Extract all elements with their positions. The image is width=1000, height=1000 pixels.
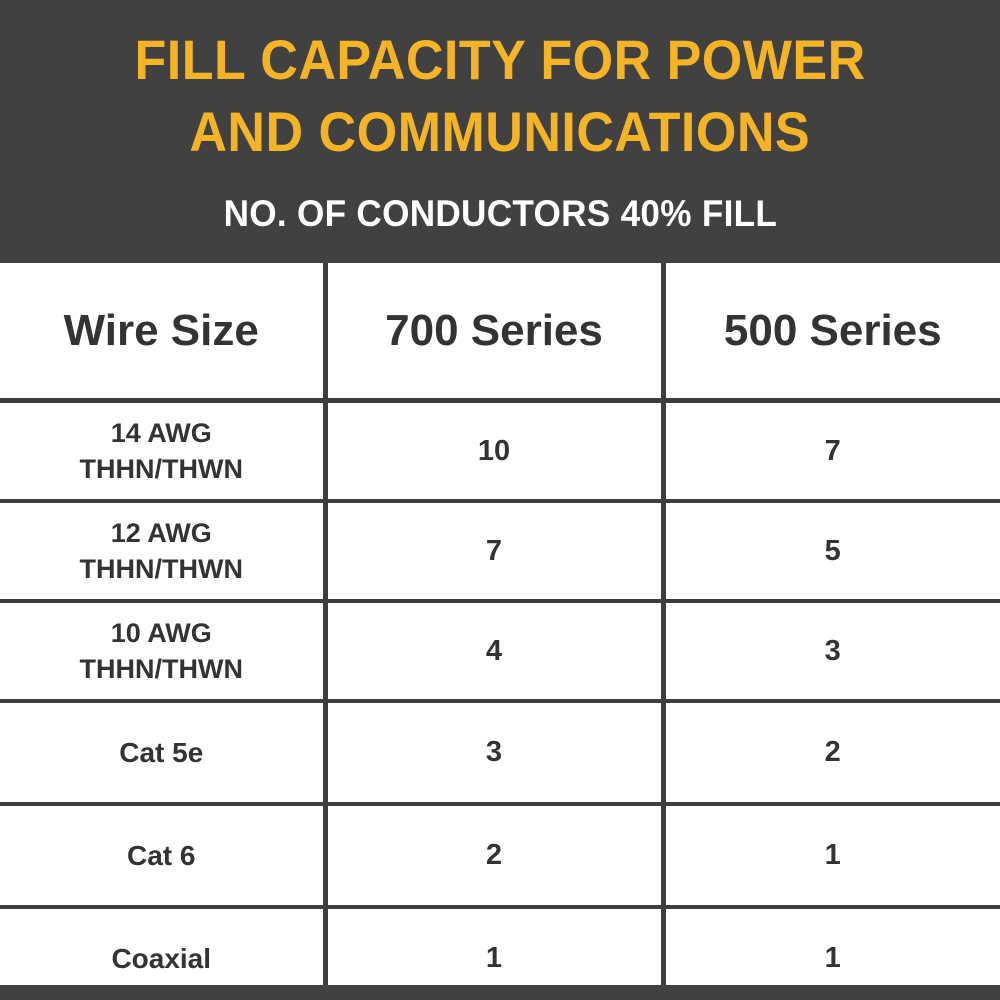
cell-700-series: 3: [325, 701, 663, 804]
header-banner: FILL CAPACITY FOR POWER AND COMMUNICATIO…: [0, 0, 1000, 263]
wire-size-primary: 12 AWG: [0, 515, 323, 551]
cell-500-series: 1: [663, 804, 1000, 907]
cell-500-series: 5: [663, 501, 1000, 601]
table-row: Cat 6 2 1: [0, 804, 1000, 907]
wire-size-secondary: THHN/THWN: [0, 551, 323, 587]
wire-size-secondary: THHN/THWN: [0, 651, 323, 687]
table-body: 14 AWG THHN/THWN 10 7 12 AWG THHN/THWN 7…: [0, 401, 1000, 1000]
cell-700-series: 10: [325, 401, 663, 502]
cell-700-series: 2: [325, 804, 663, 907]
cell-500-series: 2: [663, 701, 1000, 804]
wire-size-primary: Cat 6: [0, 838, 323, 874]
cell-wire-size: 14 AWG THHN/THWN: [0, 401, 325, 502]
fill-capacity-table: Wire Size 700 Series 500 Series 14 AWG T…: [0, 263, 1000, 1000]
cell-wire-size: Cat 6: [0, 804, 325, 907]
cell-500-series: 3: [663, 601, 1000, 701]
column-header-700-series: 700 Series: [325, 263, 663, 401]
fill-capacity-table-container: Wire Size 700 Series 500 Series 14 AWG T…: [0, 263, 1000, 985]
page-subtitle: NO. OF CONDUCTORS 40% FILL: [223, 192, 777, 236]
wire-size-primary: 14 AWG: [0, 415, 323, 451]
wire-size-primary: Cat 5e: [0, 735, 323, 771]
page-title-line-1: FILL CAPACITY FOR POWER: [134, 24, 865, 96]
cell-wire-size: 10 AWG THHN/THWN: [0, 601, 325, 701]
fill-capacity-chart: FILL CAPACITY FOR POWER AND COMMUNICATIO…: [0, 0, 1000, 1000]
table-row: 10 AWG THHN/THWN 4 3: [0, 601, 1000, 701]
table-row: 12 AWG THHN/THWN 7 5: [0, 501, 1000, 601]
page-title-line-2: AND COMMUNICATIONS: [190, 96, 811, 168]
cell-500-series: 7: [663, 401, 1000, 502]
wire-size-primary: 10 AWG: [0, 615, 323, 651]
column-header-wire-size: Wire Size: [0, 263, 325, 401]
cell-700-series: 4: [325, 601, 663, 701]
wire-size-primary: Coaxial: [0, 941, 323, 977]
cell-wire-size: Cat 5e: [0, 701, 325, 804]
footer-strip: [0, 985, 1000, 1000]
table-header: Wire Size 700 Series 500 Series: [0, 263, 1000, 401]
cell-700-series: 7: [325, 501, 663, 601]
cell-wire-size: 12 AWG THHN/THWN: [0, 501, 325, 601]
table-header-row: Wire Size 700 Series 500 Series: [0, 263, 1000, 401]
column-header-500-series: 500 Series: [663, 263, 1000, 401]
wire-size-secondary: THHN/THWN: [0, 451, 323, 487]
table-row: Cat 5e 3 2: [0, 701, 1000, 804]
table-row: 14 AWG THHN/THWN 10 7: [0, 401, 1000, 502]
